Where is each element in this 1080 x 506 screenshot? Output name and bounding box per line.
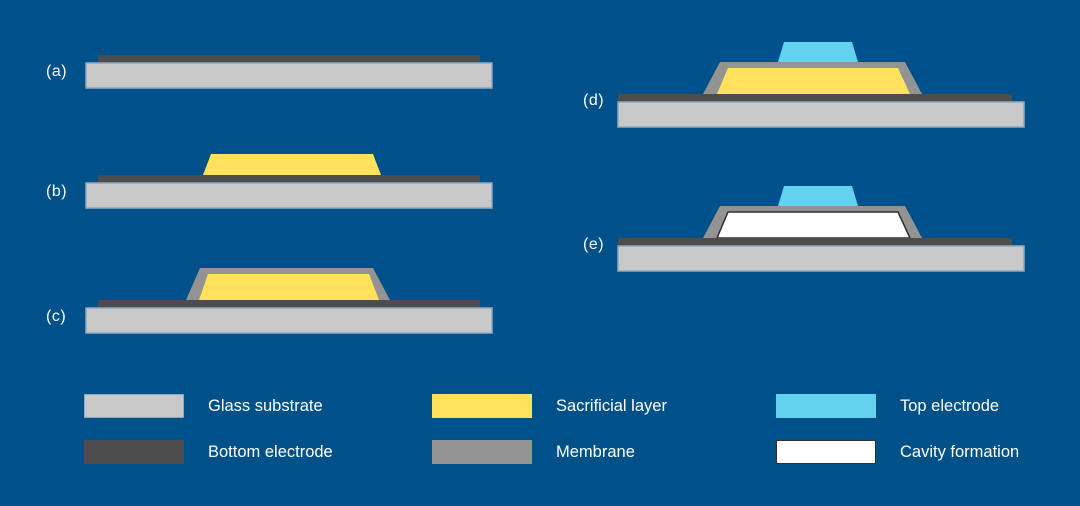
glass-substrate-layer	[86, 183, 492, 208]
glass-substrate-layer	[618, 102, 1024, 127]
glass-substrate-layer	[86, 308, 492, 333]
panel-e-cross-section	[540, 160, 1080, 280]
glass-substrate-layer	[86, 63, 492, 88]
panel-b: (b)	[0, 130, 540, 240]
legend-item-top-electrode: Top electrode	[776, 394, 999, 418]
panel-a: (a)	[0, 0, 540, 120]
top-electrode-shape	[778, 42, 858, 62]
cavity-formation-swatch	[776, 440, 876, 464]
glass-substrate-layer	[618, 246, 1024, 271]
legend-item-bottom-electrode: Bottom electrode	[84, 440, 333, 464]
bottom-electrode-swatch	[84, 440, 184, 464]
top-electrode-swatch	[776, 394, 876, 418]
legend-label-top-electrode: Top electrode	[900, 397, 999, 416]
legend-label-glass-substrate: Glass substrate	[208, 397, 323, 416]
panel-c: (c)	[0, 255, 540, 365]
legend-item-cavity-formation: Cavity formation	[776, 440, 1019, 464]
legend-item-sacrificial-layer: Sacrificial layer	[432, 394, 667, 418]
legend-item-glass-substrate: Glass substrate	[84, 394, 323, 418]
legend-label-sacrificial-layer: Sacrificial layer	[556, 397, 667, 416]
cavity-shape	[717, 212, 910, 238]
legend-item-membrane: Membrane	[432, 440, 635, 464]
panel-a-cross-section	[0, 0, 540, 120]
panel-c-cross-section	[0, 255, 540, 365]
panel-b-cross-section	[0, 130, 540, 240]
glass-substrate-swatch	[84, 394, 184, 418]
sacrificial-layer-shape	[199, 274, 379, 300]
panel-d: (d)	[540, 20, 1080, 140]
sacrificial-layer-shape	[717, 68, 910, 94]
sacrificial-layer-shape	[203, 154, 381, 175]
legend: Glass substrate Bottom electrode Sacrifi…	[0, 378, 1080, 478]
legend-label-membrane: Membrane	[556, 443, 635, 462]
membrane-swatch	[432, 440, 532, 464]
sacrificial-layer-swatch	[432, 394, 532, 418]
legend-label-cavity-formation: Cavity formation	[900, 443, 1019, 462]
panel-d-cross-section	[540, 20, 1080, 140]
panel-e: (e)	[540, 160, 1080, 280]
legend-label-bottom-electrode: Bottom electrode	[208, 443, 333, 462]
figure-canvas: (a) (b) (c)	[0, 0, 1080, 506]
top-electrode-shape	[778, 186, 858, 206]
